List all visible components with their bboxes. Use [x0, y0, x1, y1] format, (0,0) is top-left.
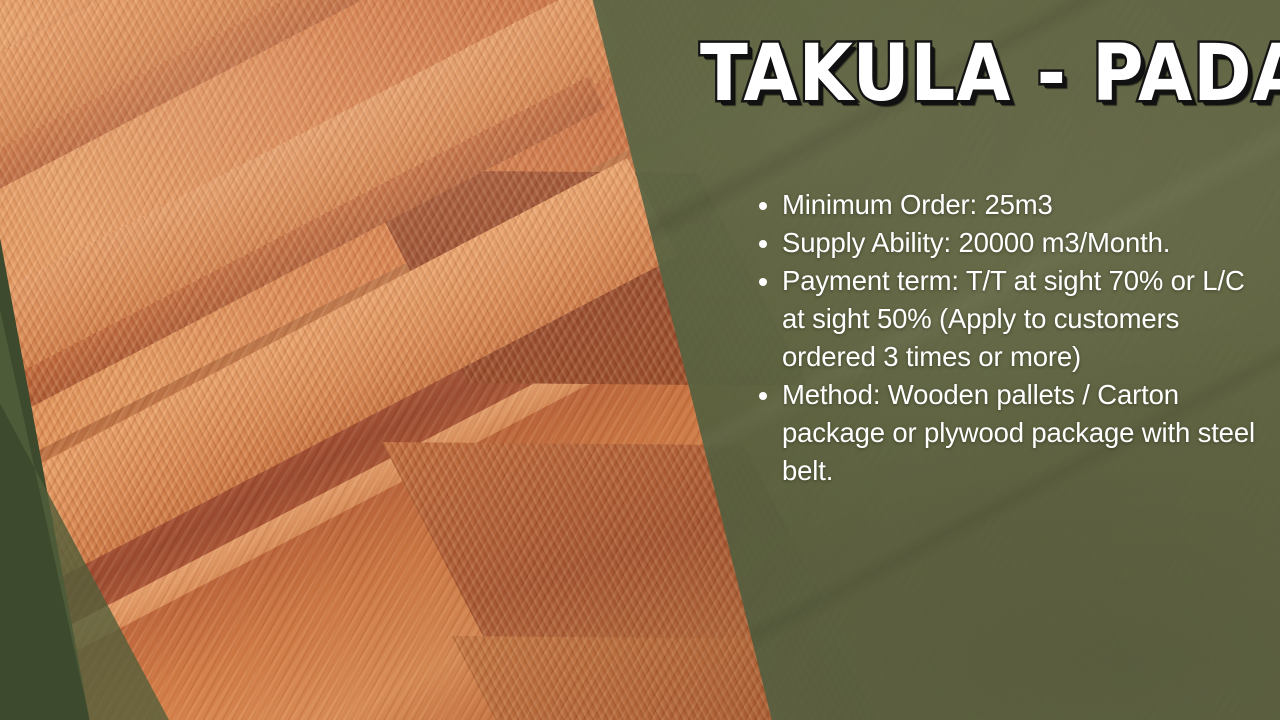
list-item: Payment term: T/T at sight 70% or L/C at…: [782, 262, 1260, 376]
slide-canvas: TAKULA - PADAUK Minimum Order: 25m3 Supp…: [0, 0, 1280, 720]
list-item: Supply Ability: 20000 m3/Month.: [782, 224, 1260, 262]
list-item: Minimum Order: 25m3: [782, 186, 1260, 224]
specification-list: Minimum Order: 25m3 Supply Ability: 2000…: [752, 186, 1260, 490]
list-item: Method: Wooden pallets / Carton package …: [782, 376, 1260, 490]
page-title: TAKULA - PADAUK: [700, 26, 1186, 122]
slide-content: TAKULA - PADAUK Minimum Order: 25m3 Supp…: [0, 0, 1280, 720]
